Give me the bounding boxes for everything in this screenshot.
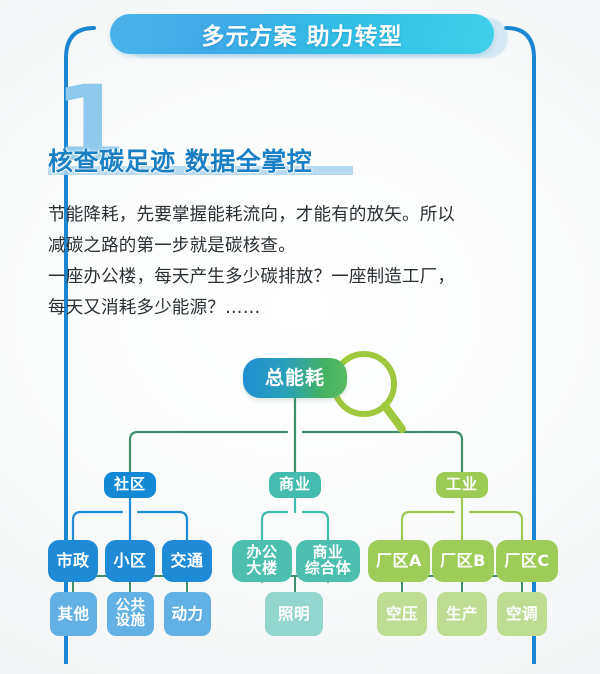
tree-node-lighting-label: 照明 [278,606,310,622]
tree-node-other[interactable]: 其他 [50,592,97,636]
tree-node-hvac[interactable]: 空调 [497,592,547,636]
paragraph-line: 减碳之路的第一步就是碳核查。 [48,231,556,262]
infographic-page: 多元方案 助力转型 1 核查碳足迹 数据全掌控 节能降耗，先要掌握能耗流向，才能… [0,0,600,674]
tree-node-community-label: 社区 [114,477,146,493]
section-paragraph: 节能降耗，先要掌握能耗流向，才能有的放矢。所以 减碳之路的第一步就是碳核查。 一… [48,200,556,324]
tree-node-plant-a[interactable]: 厂区A [368,540,430,582]
tree-node-transport[interactable]: 交通 [162,540,212,582]
tree-node-air-compressor[interactable]: 空压 [377,592,427,636]
energy-tree-diagram: 总能耗 社区 商业 工业 市政 小区 交通 办公大楼 商业综合体 厂区A [0,340,600,660]
page-title: 核查碳足迹 数据全掌控 [48,142,312,178]
tree-node-air-compressor-label: 空压 [386,606,418,622]
tree-node-production-label: 生产 [446,606,478,622]
tree-node-industrial-label: 工业 [446,477,478,493]
tree-node-office-building-label: 办公大楼 [246,545,277,577]
tree-node-municipal[interactable]: 市政 [48,540,98,582]
tree-node-residential[interactable]: 小区 [105,540,155,582]
tree-node-office-building[interactable]: 办公大楼 [232,540,292,582]
tree-node-industrial[interactable]: 工业 [436,472,488,498]
paragraph-line: 一座办公楼，每天产生多少碳排放？一座制造工厂， [48,262,556,293]
paragraph-line: 节能降耗，先要掌握能耗流向，才能有的放矢。所以 [48,200,556,231]
tree-node-plant-b[interactable]: 厂区B [432,540,494,582]
tree-node-transport-label: 交通 [170,553,203,570]
tree-node-plant-c[interactable]: 厂区C [496,540,558,582]
tree-node-production[interactable]: 生产 [437,592,487,636]
tree-node-lighting[interactable]: 照明 [265,592,323,636]
tree-node-hvac-label: 空调 [506,606,538,622]
tree-node-power[interactable]: 动力 [164,592,211,636]
tree-node-commercial-complex[interactable]: 商业综合体 [296,540,360,582]
tree-node-commercial-label: 商业 [279,477,311,493]
tree-node-root-label: 总能耗 [265,368,325,388]
tree-node-residential-label: 小区 [113,553,146,570]
tree-node-municipal-label: 市政 [56,553,89,570]
tree-node-public-facility-label: 公共设施 [116,599,146,630]
banner-pill: 多元方案 助力转型 [110,14,494,54]
tree-node-plant-a-label: 厂区A [376,553,422,570]
tree-node-plant-b-label: 厂区B [440,553,486,570]
banner-title: 多元方案 助力转型 [201,17,402,51]
tree-node-public-facility[interactable]: 公共设施 [107,592,154,636]
tree-node-plant-c-label: 厂区C [504,553,549,570]
section-heading-row: 核查碳足迹 数据全掌控 [48,144,312,178]
tree-node-power-label: 动力 [171,606,203,622]
top-banner: 多元方案 助力转型 [0,9,600,57]
tree-node-root[interactable]: 总能耗 [243,358,347,398]
tree-node-commercial-complex-label: 商业综合体 [305,545,352,577]
tree-node-other-label: 其他 [57,606,89,622]
tree-node-commercial[interactable]: 商业 [269,472,321,498]
tree-node-community[interactable]: 社区 [104,472,156,498]
paragraph-line: 每天又消耗多少能源？…… [48,293,556,324]
